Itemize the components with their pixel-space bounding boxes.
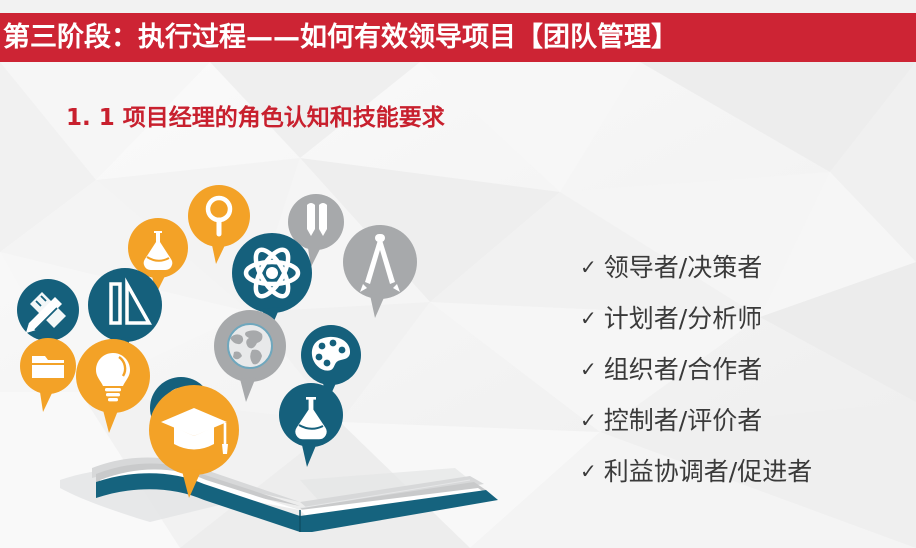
slide-canvas: 第三阶段：执行过程——如何有效领导项目【团队管理】 1. 1 项目经理的角色认知… <box>0 0 916 548</box>
page-title: 第三阶段：执行过程——如何有效领导项目【团队管理】 <box>0 24 678 51</box>
section-subheading: 1. 1 项目经理的角色认知和技能要求 <box>66 98 445 132</box>
artwork-open-book-icons <box>0 150 520 548</box>
title-banner: 第三阶段：执行过程——如何有效领导项目【团队管理】 <box>0 13 916 62</box>
check-icon: ✓ <box>580 408 597 432</box>
check-icon: ✓ <box>580 357 597 381</box>
role-bullet-list: ✓ 领导者/决策者 ✓ 计划者/分析师 ✓ 组织者/合作者 ✓ 控制者/评价者 … <box>580 248 900 503</box>
list-item: ✓ 控制者/评价者 <box>580 401 900 437</box>
list-item: ✓ 利益协调者/促进者 <box>580 452 900 488</box>
list-item: ✓ 领导者/决策者 <box>580 248 900 284</box>
list-item-label: 计划者/分析师 <box>604 299 762 335</box>
check-icon: ✓ <box>580 459 597 483</box>
open-book-illustration <box>60 458 498 533</box>
check-icon: ✓ <box>580 255 597 279</box>
bubble-lightbulb-icon <box>76 339 150 433</box>
check-icon: ✓ <box>580 306 597 330</box>
bubble-earth-icon <box>214 310 286 402</box>
list-item-label: 控制者/评价者 <box>604 401 762 437</box>
list-item-label: 利益协调者/促进者 <box>604 452 812 488</box>
list-item: ✓ 组织者/合作者 <box>580 350 900 386</box>
bubble-open-book-icon <box>20 338 76 412</box>
bubble-compass-divider-icon <box>343 225 417 318</box>
list-item-label: 领导者/决策者 <box>604 248 762 284</box>
list-item: ✓ 计划者/分析师 <box>580 299 900 335</box>
list-item-label: 组织者/合作者 <box>604 350 762 386</box>
bubble-flask-small-icon <box>279 383 343 467</box>
